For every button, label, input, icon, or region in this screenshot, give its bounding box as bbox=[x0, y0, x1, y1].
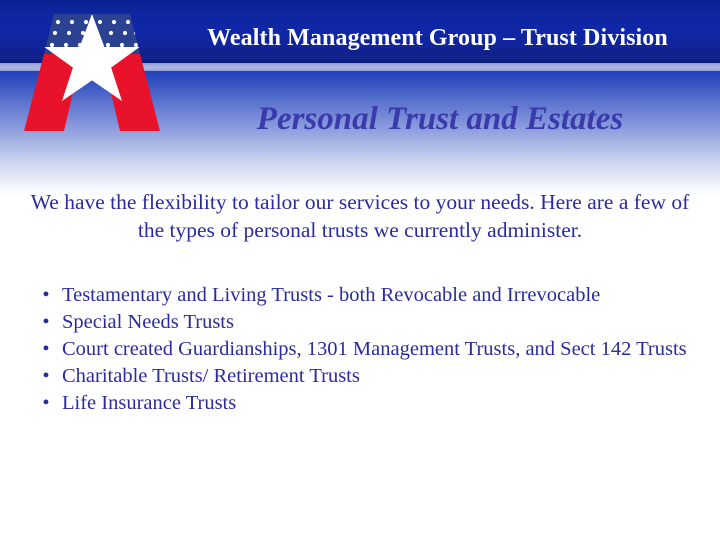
company-logo bbox=[24, 0, 160, 131]
list-item-label: Court created Guardianships, 1301 Manage… bbox=[62, 336, 702, 363]
lead-paragraph: We have the flexibility to tailor our se… bbox=[22, 188, 698, 244]
list-item-label: Charitable Trusts/ Retirement Trusts bbox=[62, 363, 702, 390]
header-title: Wealth Management Group – Trust Division bbox=[165, 24, 710, 52]
list-item: • Testamentary and Living Trusts - both … bbox=[22, 282, 702, 309]
slide-title: Personal Trust and Estates bbox=[160, 98, 720, 140]
presentation-slide: Wealth Management Group – Trust Division bbox=[0, 0, 720, 540]
letter-a-star-icon bbox=[24, 0, 160, 131]
bullet-point-icon: • bbox=[40, 390, 52, 417]
list-item-label: Life Insurance Trusts bbox=[62, 390, 702, 417]
list-item: • Life Insurance Trusts bbox=[22, 390, 702, 417]
list-item-label: Special Needs Trusts bbox=[62, 309, 702, 336]
bullet-point-icon: • bbox=[40, 363, 52, 390]
list-item: • Special Needs Trusts bbox=[22, 309, 702, 336]
trust-types-list: • Testamentary and Living Trusts - both … bbox=[22, 282, 702, 417]
bullet-point-icon: • bbox=[40, 336, 52, 363]
bullet-point-icon: • bbox=[40, 282, 52, 309]
bullet-point-icon: • bbox=[40, 309, 52, 336]
list-item: • Court created Guardianships, 1301 Mana… bbox=[22, 336, 702, 363]
list-item: • Charitable Trusts/ Retirement Trusts bbox=[22, 363, 702, 390]
list-item-label: Testamentary and Living Trusts - both Re… bbox=[62, 282, 702, 309]
